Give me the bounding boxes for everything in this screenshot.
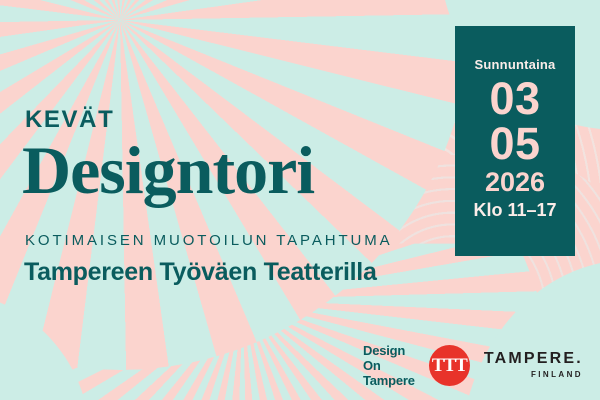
tagline: KOTIMAISEN MUOTOILUN TAPAHTUMA: [25, 233, 393, 248]
page-title: Designtori: [22, 136, 314, 204]
date-year: 2026: [455, 169, 575, 196]
date-month: 05: [455, 122, 575, 165]
sponsor-logo-row: Design On Tampere TTT TAMPERE. FINLAND: [363, 343, 583, 388]
ttt-logo-mark: TTT: [432, 356, 467, 375]
design-on-tampere-line2: On: [363, 358, 415, 373]
tampere-finland-logo: TAMPERE. FINLAND: [484, 351, 583, 379]
design-on-tampere-line3: Tampere: [363, 373, 415, 388]
date-time: Klo 11–17: [455, 201, 575, 219]
tampere-wordmark: TAMPERE.: [484, 351, 583, 367]
season-label: KEVÄT: [25, 108, 114, 132]
ttt-theatre-logo: TTT: [429, 345, 470, 386]
date-day: 03: [455, 77, 575, 120]
poster-content: KEVÄT Designtori KOTIMAISEN MUOTOILUN TA…: [0, 0, 600, 400]
date-weekday: Sunnuntaina: [455, 57, 575, 72]
design-on-tampere-line1: Design: [363, 343, 415, 358]
tampere-country-tag: FINLAND: [484, 371, 583, 379]
venue-name: Tampereen Työväen Teatterilla: [24, 259, 377, 287]
poster-canvas: KEVÄT Designtori KOTIMAISEN MUOTOILUN TA…: [0, 0, 600, 400]
design-on-tampere-logo: Design On Tampere: [363, 343, 415, 388]
date-panel: Sunnuntaina 03 05 2026 Klo 11–17: [455, 26, 575, 256]
